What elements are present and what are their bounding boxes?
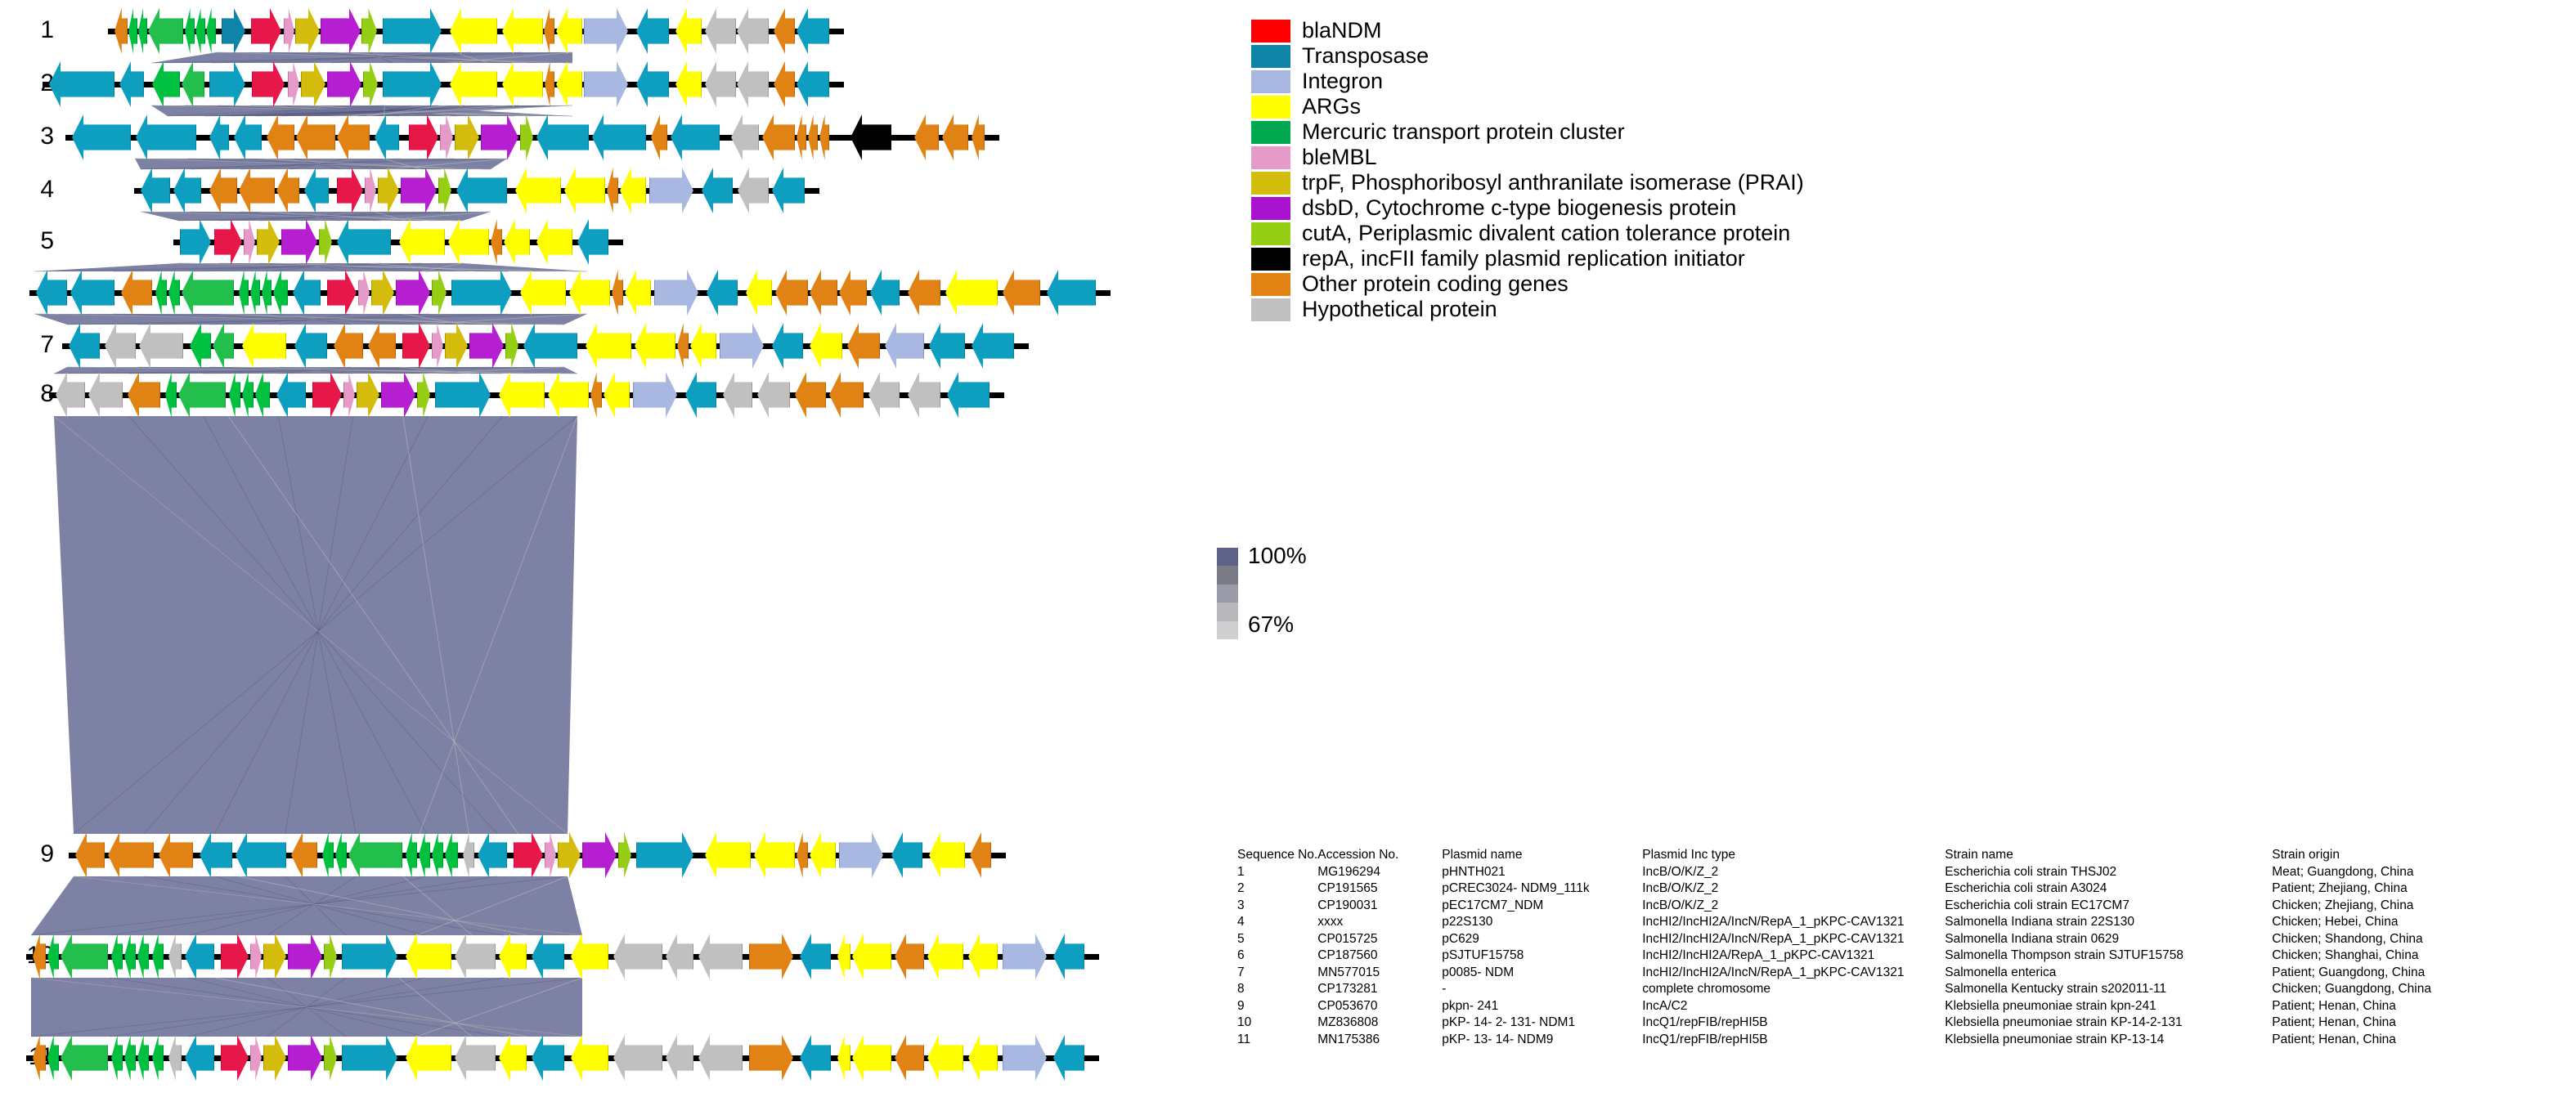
gene-arrow (852, 934, 891, 979)
legend-item-dsbd: dsbD, Cytochrome c-type biogenesis prote… (1251, 195, 1804, 221)
legend-item-integron: Integron (1251, 69, 1804, 94)
table-cell: Patient; Henan, China (2272, 1032, 2431, 1049)
legend-label-blandm: blaNDM (1302, 20, 1382, 42)
legend-swatch-transposase (1251, 45, 1290, 68)
gene-arrow (968, 1035, 998, 1081)
gene-arrow (72, 114, 131, 160)
gene-arrow (321, 8, 361, 54)
table-cell: pSJTUF15758 (1442, 947, 1642, 965)
gene-arrow (520, 270, 566, 316)
gene-arrow (229, 372, 240, 418)
gene-arrow (136, 114, 196, 160)
gene-arrow (775, 270, 808, 316)
legend-label-cuta: cutA, Periplasmic divalent cation tolera… (1302, 222, 1790, 244)
gene-arrow (532, 934, 564, 979)
legend-swatch-other-protein-coding-genes (1251, 273, 1290, 296)
gene-arrow (221, 934, 249, 979)
gene-arrow (185, 1035, 214, 1081)
table-cell: CP191565 (1317, 880, 1442, 898)
gene-arrow (481, 114, 518, 160)
legend-label-mercuric-transport-protein-cluster: Mercuric transport protein cluster (1302, 121, 1625, 143)
gene-arrow (327, 270, 357, 316)
gene-arrow (592, 114, 646, 160)
legend-item-hypothetical-protein: Hypothetical protein (1251, 297, 1804, 322)
table-header-cell: Plasmid name (1442, 847, 1642, 864)
gene-arrow (762, 114, 795, 160)
gene-arrow (677, 323, 689, 369)
table-cell: complete chromosome (1642, 981, 1945, 998)
gene-arrow (450, 61, 497, 107)
gene-arrow (469, 323, 504, 369)
gene-arrow (451, 270, 512, 316)
gene-arrow (267, 114, 294, 160)
legend-item-transposase: Transposase (1251, 43, 1804, 69)
gene-arrow (754, 832, 795, 878)
gene-arrow (213, 323, 234, 369)
identity-stop-3 (1217, 603, 1238, 620)
gene-track-4 (0, 168, 1194, 213)
gene-arrow (155, 270, 167, 316)
gene-arrow (322, 832, 334, 878)
table-cell: IncHI2/IncHI2A/IncN/RepA_1_pKPC-CAV1321 (1642, 931, 1945, 948)
gene-arrow (124, 934, 136, 979)
gene-arrow (456, 168, 507, 213)
gene-arrow (839, 832, 883, 878)
identity-stop-0 (1217, 548, 1238, 566)
gene-arrow (584, 8, 628, 54)
gene-arrow (75, 832, 105, 878)
table-cell: pCREC3024- NDM9_111k (1442, 880, 1642, 898)
table-cell: pHNTH021 (1442, 864, 1642, 881)
table-cell: p22S130 (1442, 914, 1642, 931)
table-cell: pKP- 14- 2- 131- NDM1 (1442, 1015, 1642, 1032)
legend-label-integron: Integron (1302, 70, 1383, 92)
gene-arrow (363, 61, 378, 107)
gene-arrow (556, 61, 582, 107)
gene-arrow (914, 114, 939, 160)
legend-swatch-blandm (1251, 20, 1290, 43)
table-cell: 9 (1237, 998, 1317, 1015)
gene-arrow (520, 114, 533, 160)
gene-arrow (284, 8, 294, 54)
gene-arrow (705, 61, 736, 107)
gene-arrow (381, 372, 415, 418)
gene-arrow (276, 372, 306, 418)
table-cell: Escherichia coli strain EC17CM7 (1945, 898, 2272, 915)
table-cell: IncHI2/IncHI2A/RepA_1_pKPC-CAV1321 (1642, 947, 1945, 965)
gene-arrow (800, 1035, 831, 1081)
gene-arrow (383, 61, 442, 107)
table-cell: pKP- 13- 14- NDM9 (1442, 1032, 1642, 1049)
gene-arrow (327, 61, 361, 107)
gene-arrow (499, 934, 527, 979)
gene-arrow (698, 934, 743, 979)
gene-arrow (797, 61, 829, 107)
gene-arrow (337, 168, 363, 213)
gene-arrow (571, 934, 608, 979)
legend-label-args: ARGs (1302, 96, 1361, 118)
table-cell: Klebsiella pneumoniae strain KP-14-2-131 (1945, 1015, 2272, 1032)
gene-arrow (173, 168, 201, 213)
gene-arrow (108, 832, 154, 878)
gene-arrow (148, 8, 183, 54)
gene-arrow (180, 219, 211, 265)
gene-arrow (929, 323, 965, 369)
gene-arrow (185, 934, 214, 979)
table-cell: Chicken; Hebei, China (2272, 914, 2431, 931)
gene-track-6 (0, 270, 1194, 316)
table-cell: Patient; Henan, China (2272, 1015, 2431, 1032)
gene-arrow (121, 270, 152, 316)
gene-arrow (182, 61, 204, 107)
table-row: 5CP015725pC629IncHI2/IncHI2A/IncN/RepA_1… (1237, 931, 2431, 948)
gene-arrow (406, 1035, 451, 1081)
gene-arrow (499, 372, 545, 418)
legend-swatch-dsbd (1251, 197, 1290, 220)
legend-item-repa: repA, incFII family plasmid replication … (1251, 246, 1804, 271)
gene-arrow (406, 934, 451, 979)
gene-arrow (137, 934, 149, 979)
gene-arrow (590, 372, 602, 418)
gene-arrow (448, 219, 489, 265)
gene-arrow (375, 114, 399, 160)
gene-arrow (636, 61, 669, 107)
table-cell: 1 (1237, 864, 1317, 881)
gene-arrow (342, 934, 397, 979)
gene-arrow (195, 8, 205, 54)
table-cell: MN175386 (1317, 1032, 1442, 1049)
legend-label-other-protein-coding-genes: Other protein coding genes (1302, 273, 1568, 295)
table-cell: 4 (1237, 914, 1317, 931)
gene-arrow (586, 323, 631, 369)
table-cell: IncQ1/repFIB/repHI5B (1642, 1032, 1945, 1049)
gene-arrow (111, 934, 123, 979)
legend-label-dsbd: dsbD, Cytochrome c-type biogenesis prote… (1302, 197, 1736, 219)
gene-arrow (33, 934, 46, 979)
gene-arrow (432, 323, 443, 369)
gene-arrow (829, 372, 864, 418)
gene-arrow (263, 934, 286, 979)
gene-arrow (61, 1035, 108, 1081)
table-cell: CP187560 (1317, 947, 1442, 965)
gene-arrow (895, 1035, 924, 1081)
table-row: 9CP053670pkpn- 241IncA/C2Klebsiella pneu… (1237, 998, 2431, 1015)
gene-arrow (337, 219, 391, 265)
gene-arrow (288, 61, 299, 107)
gene-arrow (582, 832, 617, 878)
gene-arrow (252, 61, 285, 107)
table-cell: IncHI2/IncHI2A/IncN/RepA_1_pKPC-CAV1321 (1642, 965, 1945, 982)
gene-arrow (731, 114, 759, 160)
gene-arrow (409, 114, 438, 160)
plasmid-table: Sequence No.Accession No.Plasmid namePla… (1237, 847, 2431, 1048)
gene-arrow (168, 1035, 182, 1081)
table-row: 3CP190031pEC17CM7_NDMIncB/O/K/Z_2Escheri… (1237, 898, 2431, 915)
table-header-cell: Strain name (1945, 847, 2272, 864)
table-row: 1MG196294pHNTH021IncB/O/K/Z_2Escherichia… (1237, 864, 2431, 881)
gene-track-8 (0, 372, 1194, 418)
legend-swatch-args (1251, 96, 1290, 119)
table-cell: CP190031 (1317, 898, 1442, 915)
table-cell: pkpn- 241 (1442, 998, 1642, 1015)
gene-arrow (504, 219, 530, 265)
gene-arrow (942, 114, 968, 160)
table-header-cell: Plasmid Inc type (1642, 847, 1945, 864)
table-cell: Chicken; Shandong, China (2272, 931, 2431, 948)
gene-track-1 (0, 8, 1194, 54)
gene-arrow (870, 270, 900, 316)
gene-arrow (445, 323, 468, 369)
gene-arrow (523, 323, 577, 369)
gene-arrow (837, 1035, 850, 1081)
gene-arrow (335, 832, 347, 878)
table-cell: Meat; Guangdong, China (2272, 864, 2431, 881)
table-cell: 11 (1237, 1032, 1317, 1049)
table-cell: IncB/O/K/Z_2 (1642, 880, 1945, 898)
gene-arrow (383, 8, 442, 54)
gene-arrow (70, 270, 114, 316)
gene-arrow (242, 372, 254, 418)
legend-item-mercuric-transport-protein-cluster: Mercuric transport protein cluster (1251, 119, 1804, 145)
identity-stop-4 (1217, 621, 1238, 639)
gene-arrow (1003, 934, 1047, 979)
gene-arrow (293, 270, 321, 316)
gene-arrow (577, 219, 608, 265)
gene-arrow (33, 1035, 46, 1081)
gene-arrow (749, 1035, 793, 1081)
gene-arrow (749, 934, 793, 979)
gene-arrow (206, 8, 216, 54)
gene-arrow (114, 8, 128, 54)
gene-arrow (757, 372, 790, 418)
table-cell: Salmonella Thompson strain SJTUF15758 (1945, 947, 2272, 965)
gene-arrow (690, 323, 716, 369)
gene-arrow (455, 1035, 496, 1081)
gene-arrow (168, 270, 180, 316)
gene-arrow (536, 219, 572, 265)
gene-arrow (288, 1035, 322, 1081)
table-row: 10MZ836808pKP- 14- 2- 131- NDM1IncQ1/rep… (1237, 1015, 2431, 1032)
gene-arrow (250, 934, 262, 979)
gene-arrow (548, 372, 589, 418)
gene-arrow (36, 270, 67, 316)
gene-arrow (209, 114, 229, 160)
table-cell: 3 (1237, 898, 1317, 915)
plasmid-comparison-figure: 1234567891011 blaNDMTransposaseIntegronA… (0, 0, 2576, 1102)
gene-arrow (178, 372, 226, 418)
gene-arrow (257, 219, 280, 265)
gene-arrow (371, 270, 394, 316)
gene-arrow (970, 832, 991, 878)
table-cell: 10 (1237, 1015, 1317, 1032)
gene-arrow (234, 114, 262, 160)
gene-arrow (885, 323, 924, 369)
table-cell: Patient; Zhejiang, China (2272, 880, 2431, 898)
gene-arrow (165, 372, 177, 418)
table-cell: Escherichia coli strain THSJ02 (1945, 864, 2272, 881)
gene-arrow (635, 323, 675, 369)
table-cell: Salmonella enterica (1945, 965, 2272, 982)
gene-arrow (401, 168, 437, 213)
table-cell: pEC17CM7_NDM (1442, 898, 1642, 915)
gene-arrow (69, 323, 100, 369)
gene-arrow (895, 934, 924, 979)
table-cell: IncB/O/K/Z_2 (1642, 864, 1945, 881)
gene-arrow (209, 61, 245, 107)
gene-arrow (200, 832, 232, 878)
gene-arrow (159, 832, 193, 878)
gene-arrow (239, 168, 275, 213)
gene-arrow (47, 934, 59, 979)
table-cell: CP053670 (1317, 998, 1442, 1015)
gene-arrow (190, 323, 211, 369)
legend-swatch-integron (1251, 70, 1290, 93)
gene-arrow (209, 168, 237, 213)
table-cell: 8 (1237, 981, 1317, 998)
gene-arrow (221, 1035, 249, 1081)
identity-scale: 100% 67% (1217, 538, 1479, 652)
gene-arrow (1003, 1035, 1047, 1081)
gene-arrow (250, 270, 260, 316)
legend-item-cuta: cutA, Periplasmic divalent cation tolera… (1251, 221, 1804, 246)
gene-arrow (929, 832, 965, 878)
gene-arrow (720, 323, 764, 369)
gene-arrow (250, 1035, 262, 1081)
table-cell: MZ836808 (1317, 1015, 1442, 1032)
gene-arrow (463, 832, 474, 878)
gene-arrow (774, 61, 795, 107)
table-row: 2CP191565pCREC3024- NDM9_111kIncB/O/K/Z_… (1237, 880, 2431, 898)
gene-arrow (666, 1035, 693, 1081)
gene-arrow (406, 832, 417, 878)
gene-arrow (868, 372, 900, 418)
gene-arrow (455, 934, 496, 979)
gene-arrow (800, 934, 831, 979)
gene-arrow (1053, 934, 1084, 979)
gene-arrow (440, 114, 453, 160)
gene-arrow (294, 323, 327, 369)
gene-arrow (502, 8, 543, 54)
legend-swatch-repa (1251, 248, 1290, 271)
table-cell: Chicken; Shanghai, China (2272, 947, 2431, 965)
gene-arrow (908, 372, 940, 418)
gene-arrow (499, 1035, 527, 1081)
gene-arrow (505, 323, 518, 369)
table-cell: 2 (1237, 880, 1317, 898)
gene-arrow (378, 168, 399, 213)
gene-arrow (612, 270, 623, 316)
gene-arrow (417, 372, 430, 418)
gene-arrow (633, 372, 677, 418)
gene-arrow (365, 168, 376, 213)
gene-arrow (746, 270, 772, 316)
gene-arrow (138, 8, 147, 54)
gene-arrow (544, 8, 554, 54)
gene-arrow (837, 934, 850, 979)
gene-arrow (152, 934, 164, 979)
gene-arrow (908, 270, 940, 316)
gene-arrow (288, 934, 322, 979)
gene-arrow (152, 1035, 164, 1081)
gene-arrow (556, 8, 582, 54)
gene-arrow (532, 1035, 564, 1081)
gene-arrow (358, 270, 370, 316)
gene-arrow (723, 372, 752, 418)
legend-item-args: ARGs (1251, 94, 1804, 119)
gene-arrow (324, 1035, 337, 1081)
gene-arrow (675, 61, 702, 107)
legend-item-trpf-prai: trpF, Phosphoribosyl anthranilate isomer… (1251, 170, 1804, 195)
legend-label-trpf-prai: trpF, Phosphoribosyl anthranilate isomer… (1302, 172, 1804, 194)
gene-arrow (607, 168, 618, 213)
table-cell: IncQ1/repFIB/repHI5B (1642, 1015, 1945, 1032)
table-cell: Salmonella Indiana strain 0629 (1945, 931, 2272, 948)
gene-arrow (972, 323, 1014, 369)
metadata-table: Sequence No.Accession No.Plasmid namePla… (1237, 847, 2431, 1048)
gene-arrow (810, 323, 842, 369)
gene-arrow (847, 323, 880, 369)
table-row: 11MN175386pKP- 13- 14- NDM9IncQ1/repFIB/… (1237, 1032, 2431, 1049)
legend-label-blembl: bleMBL (1302, 146, 1377, 168)
gene-arrow (88, 372, 123, 418)
gene-arrow (797, 114, 806, 160)
gene-arrow (56, 372, 85, 418)
table-cell: pC629 (1442, 931, 1642, 948)
gene-arrow (515, 168, 561, 213)
gene-track-2 (0, 61, 1194, 107)
gene-arrow (810, 270, 837, 316)
gene-arrow (137, 1035, 149, 1081)
gene-arrow (1003, 270, 1040, 316)
gene-arrow (263, 1035, 286, 1081)
table-cell: - (1442, 981, 1642, 998)
gene-arrow (839, 270, 867, 316)
gene-arrow (262, 270, 272, 316)
gene-arrow (852, 1035, 891, 1081)
gene-arrow (649, 168, 693, 213)
gene-arrow (111, 1035, 123, 1081)
gene-arrow (850, 114, 891, 160)
gene-arrow (675, 8, 702, 54)
gene-arrow (545, 832, 556, 878)
gene-arrow (128, 8, 137, 54)
table-cell: MN577015 (1317, 965, 1442, 982)
gene-arrow (301, 61, 325, 107)
gene-arrow (772, 168, 805, 213)
legend-label-transposase: Transposase (1302, 45, 1429, 67)
gene-arrow (1053, 1035, 1084, 1081)
table-cell: Klebsiella pneumoniae strain KP-13-14 (1945, 1032, 2272, 1049)
gene-arrow (242, 323, 286, 369)
gene-arrow (558, 832, 581, 878)
gene-arrow (945, 270, 998, 316)
identity-stop-2 (1217, 585, 1238, 603)
gene-arrow (636, 8, 669, 54)
table-cell: MG196294 (1317, 864, 1442, 881)
gene-arrow (214, 219, 242, 265)
gene-arrow (564, 168, 605, 213)
gene-arrow (774, 8, 795, 54)
gene-track-9 (0, 832, 1194, 878)
gene-arrow (618, 832, 631, 878)
gene-arrow (797, 832, 808, 878)
table-header-cell: Accession No. (1317, 847, 1442, 864)
gene-arrow (324, 934, 337, 979)
alignment-ribbon (54, 416, 577, 834)
gene-arrow (276, 168, 299, 213)
gene-track-3 (0, 114, 1194, 160)
gene-arrow (348, 832, 402, 878)
